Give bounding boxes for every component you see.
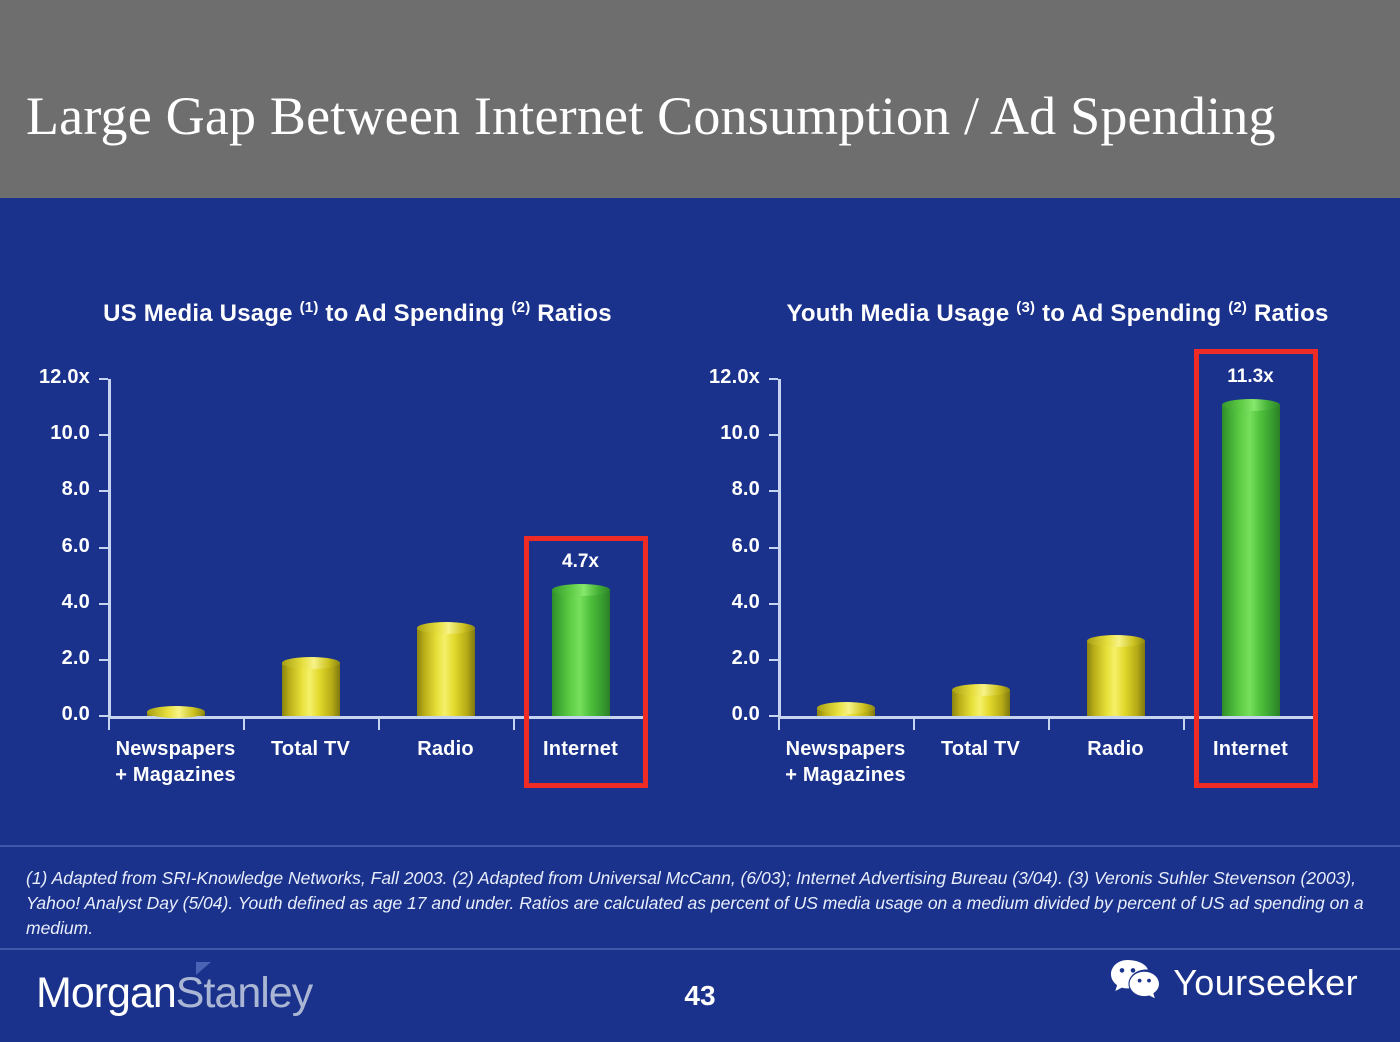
youth-x-tick bbox=[778, 719, 780, 730]
footnote-divider-top bbox=[0, 845, 1400, 847]
highlight-box-internet bbox=[524, 536, 648, 788]
us-y-tick-label: 6.0 bbox=[0, 535, 90, 558]
us-y-tick-label: 2.0 bbox=[0, 647, 90, 670]
us-y-tick bbox=[99, 715, 108, 717]
plot-area-youth: 0.02.04.06.08.010.012.0xNewspapers+ Maga… bbox=[715, 198, 1400, 818]
x-category-label-line: + Magazines bbox=[751, 762, 941, 788]
us-y-tick-label: 4.0 bbox=[0, 591, 90, 614]
highlight-box-internet bbox=[1194, 349, 1318, 788]
youth-x-tick bbox=[1048, 719, 1050, 730]
bar-cap bbox=[417, 622, 475, 634]
us-y-tick-label: 10.0 bbox=[0, 422, 90, 445]
youth-y-tick-label: 2.0 bbox=[668, 647, 760, 670]
us-y-tick bbox=[99, 434, 108, 436]
us-y-tick-label: 0.0 bbox=[0, 703, 90, 726]
us-y-tick-label: 8.0 bbox=[0, 478, 90, 501]
us-x-tick bbox=[108, 719, 110, 730]
youth-y-tick-label: 0.0 bbox=[668, 703, 760, 726]
bar-youth-newspapers-magazines bbox=[817, 702, 875, 716]
us-x-tick bbox=[243, 719, 245, 730]
bar-cap bbox=[952, 684, 1010, 696]
us-y-tick bbox=[99, 378, 108, 380]
youth-y-tick bbox=[769, 490, 778, 492]
us-x-tick bbox=[378, 719, 380, 730]
bar-body bbox=[417, 628, 475, 716]
youth-y-tick-label: 8.0 bbox=[668, 478, 760, 501]
us-y-tick bbox=[99, 547, 108, 549]
us-x-tick bbox=[513, 719, 515, 730]
watermark-label: Yourseeker bbox=[1173, 962, 1358, 1004]
bar-cap bbox=[1087, 635, 1145, 647]
x-category-label-line: + Magazines bbox=[81, 762, 271, 788]
slide: Large Gap Between Internet Consumption /… bbox=[0, 0, 1400, 1042]
us-y-tick bbox=[99, 603, 108, 605]
wechat-icon bbox=[1109, 958, 1161, 1007]
plot-area-us: 0.02.04.06.08.010.012.0xNewspapers+ Maga… bbox=[0, 198, 715, 818]
youth-y-tick-label: 6.0 bbox=[668, 535, 760, 558]
morgan-stanley-triangle-icon bbox=[196, 962, 211, 975]
bar-us-newspapers-magazines bbox=[147, 706, 205, 716]
bar-cap bbox=[282, 657, 340, 669]
bar-us-radio bbox=[417, 622, 475, 716]
chart-panel-us-media-usage: US Media Usage (1) to Ad Spending (2) Ra… bbox=[0, 198, 715, 818]
youth-y-tick-label: 12.0x bbox=[668, 366, 760, 389]
bar-cap bbox=[147, 706, 205, 718]
youth-y-tick bbox=[769, 603, 778, 605]
youth-y-tick bbox=[769, 715, 778, 717]
slide-header: Large Gap Between Internet Consumption /… bbox=[0, 0, 1400, 198]
youth-x-tick bbox=[1183, 719, 1185, 730]
youth-y-tick-label: 4.0 bbox=[668, 591, 760, 614]
watermark-yourseeker: Yourseeker bbox=[1109, 958, 1358, 1007]
youth-y-tick bbox=[769, 547, 778, 549]
us-y-tick bbox=[99, 490, 108, 492]
youth-y-tick bbox=[769, 434, 778, 436]
bar-youth-total-tv bbox=[952, 684, 1010, 716]
chart-panel-youth-media-usage: Youth Media Usage (3) to Ad Spending (2)… bbox=[715, 198, 1400, 818]
youth-y-axis-line bbox=[778, 379, 781, 719]
bar-cap bbox=[817, 702, 875, 714]
page-title: Large Gap Between Internet Consumption /… bbox=[26, 86, 1376, 146]
footnote-divider-bottom bbox=[0, 948, 1400, 950]
us-y-tick-label: 12.0x bbox=[0, 366, 90, 389]
youth-y-tick-label: 10.0 bbox=[668, 422, 760, 445]
bar-body bbox=[1087, 641, 1145, 716]
us-y-tick bbox=[99, 659, 108, 661]
bar-us-total-tv bbox=[282, 657, 340, 716]
youth-y-tick bbox=[769, 659, 778, 661]
youth-y-tick bbox=[769, 378, 778, 380]
footnote-text: (1) Adapted from SRI-Knowledge Networks,… bbox=[26, 866, 1374, 941]
bar-body bbox=[282, 663, 340, 716]
us-y-axis-line bbox=[108, 379, 111, 719]
youth-x-tick bbox=[913, 719, 915, 730]
bar-youth-radio bbox=[1087, 635, 1145, 716]
